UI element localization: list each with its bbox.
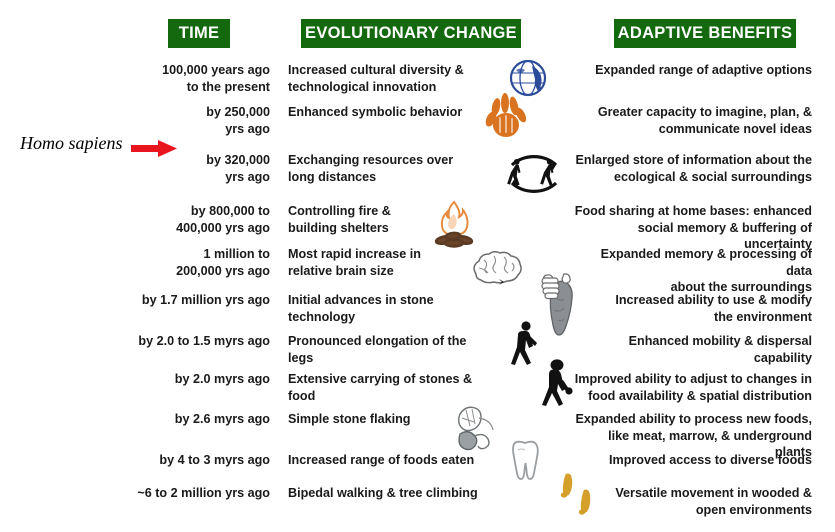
- time-cell: by 2.0 to 1.5 myrs ago: [60, 333, 270, 350]
- adaptive-benefit-cell: Improved ability to adjust to changes in…: [572, 371, 812, 404]
- resource-exchange-figures-icon: [498, 143, 570, 210]
- adaptive-benefit-cell: Improved access to diverse foods: [572, 452, 812, 469]
- brain-icon: [466, 248, 526, 295]
- time-cell: ~6 to 2 million yrs ago: [60, 485, 270, 502]
- adaptive-benefit-cell: Enlarged store of information about thee…: [572, 152, 812, 185]
- adaptive-benefit-cell: Versatile movement in wooded &open envir…: [572, 485, 812, 518]
- adaptive-benefit-cell: Greater capacity to imagine, plan, &comm…: [572, 104, 812, 137]
- adaptive-benefit-cell: Increased ability to use & modifythe env…: [572, 292, 812, 325]
- tooth-icon: [508, 438, 542, 489]
- time-cell: 1 million to200,000 yrs ago: [60, 246, 270, 279]
- handprint-icon: [482, 93, 530, 146]
- hominin-carrying-silhouette-icon: [540, 358, 578, 419]
- evolutionary-change-cell: Pronounced elongation of the legs: [288, 333, 488, 366]
- time-cell: by 1.7 million yrs ago: [60, 292, 270, 309]
- time-cell: by 2.6 myrs ago: [60, 411, 270, 428]
- adaptive-benefit-cell: Expanded memory & processing of dataabou…: [572, 246, 812, 296]
- evolutionary-change-cell: Bipedal walking & tree climbing: [288, 485, 488, 502]
- time-cell: by 800,000 to400,000 yrs ago: [60, 203, 270, 236]
- evolutionary-change-cell: Enhanced symbolic behavior: [288, 104, 488, 121]
- walking-human-silhouette-icon: [508, 320, 542, 379]
- time-cell: by 4 to 3 myrs ago: [60, 452, 270, 469]
- evolutionary-change-cell: Increased cultural diversity &technologi…: [288, 62, 488, 95]
- evolutionary-change-cell: Exchanging resources overlong distances: [288, 152, 488, 185]
- footprints-icon: [558, 468, 600, 529]
- time-cell: by 2.0 myrs ago: [60, 371, 270, 388]
- adaptive-benefit-cell: Expanded range of adaptive options: [572, 62, 812, 79]
- time-cell: by 320,000yrs ago: [60, 152, 270, 185]
- adaptive-benefit-cell: Enhanced mobility & dispersal capability: [572, 333, 812, 366]
- timeline-grid: 100,000 years agoto the presentIncreased…: [0, 0, 835, 532]
- stone-flaking-icon: [446, 400, 510, 461]
- campfire-icon: [428, 198, 480, 255]
- time-cell: 100,000 years agoto the present: [60, 62, 270, 95]
- handaxe-in-hand-icon: [536, 268, 588, 343]
- evolutionary-change-cell: Initial advances in stone technology: [288, 292, 488, 325]
- time-cell: by 250,000yrs ago: [60, 104, 270, 137]
